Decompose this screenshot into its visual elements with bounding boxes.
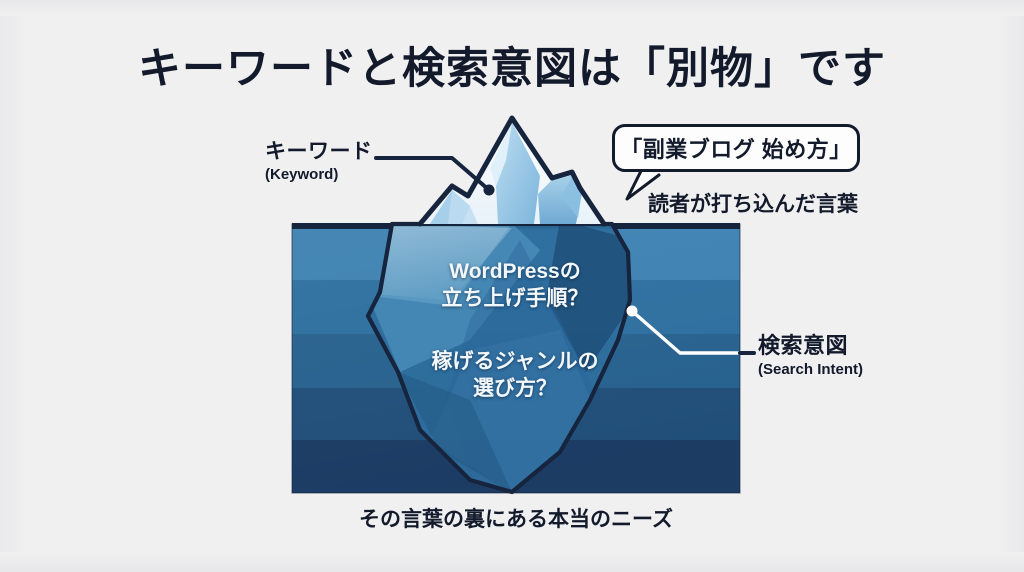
bottom-caption: その言葉の裏にある本当のニーズ [292,503,740,533]
iceberg-tip [420,118,604,224]
underwater-need-1: WordPressの 立ち上げ手順？ [400,258,630,313]
speech-bubble-caption: 読者が打ち込んだ言葉 [648,188,858,218]
search-query-text: 「副業ブログ 始め方」 [620,132,852,164]
underwater-need-1-line-1: WordPressの [400,258,630,285]
underwater-need-2-line-1: 稼げるジャンルの [400,348,630,375]
page-title: キーワードと検索意図は「別物」です [0,34,1024,96]
search-intent-label-en: (Search Intent) [758,361,863,379]
keyword-annotation: キーワード (Keyword) [265,140,373,184]
keyword-label-jp: キーワード [265,140,373,164]
diagram-canvas: キーワードと検索意図は「別物」です キーワード (Keyword) 検索意図 (… [0,0,1024,572]
search-query-speech-bubble: 「副業ブログ 始め方」 [612,124,860,172]
underwater-need-2: 稼げるジャンルの 選び方？ [400,348,630,403]
underwater-need-1-line-2: 立ち上げ手順？ [400,285,630,312]
anchor-dot-keyword [484,185,495,196]
search-intent-annotation: 検索意図 (Search Intent) [758,334,863,379]
search-intent-label-jp: 検索意図 [758,334,863,359]
keyword-label-en: (Keyword) [265,166,373,184]
underwater-need-2-line-2: 選び方？ [400,375,630,402]
